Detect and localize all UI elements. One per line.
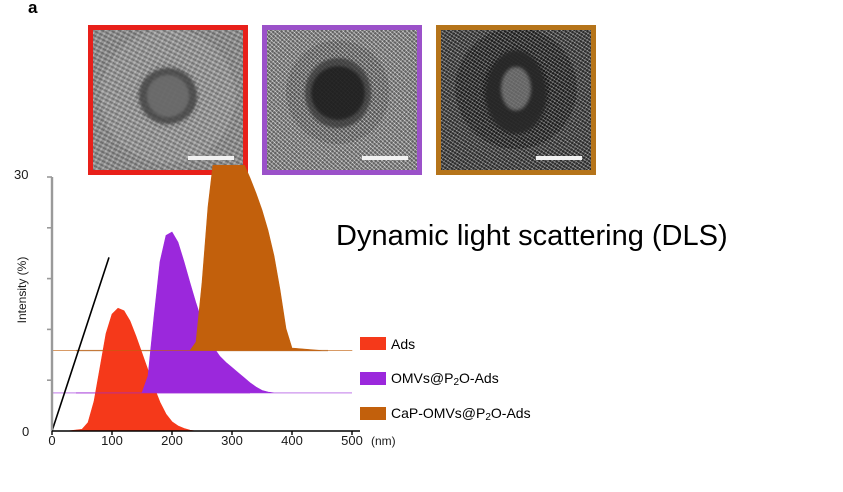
scale-bar-icon bbox=[188, 156, 234, 160]
tem-cap-inner bbox=[441, 30, 591, 170]
tem-image-ads bbox=[88, 25, 248, 175]
legend-label-ads: Ads bbox=[391, 336, 415, 352]
dls-plot: Intensity (%) 30 0 0 100 200 300 400 500… bbox=[0, 165, 420, 465]
chart-legend: Ads OMVs@P2O-Ads CaP-OMVs@P2O-Ads bbox=[360, 326, 660, 431]
tem-ads-particle bbox=[139, 68, 197, 124]
tem-image-omvs bbox=[262, 25, 422, 175]
x-tick-label-0: 0 bbox=[48, 433, 55, 448]
legend-item-ads: Ads bbox=[360, 326, 660, 361]
tem-image-cap-omvs bbox=[436, 25, 596, 175]
scale-bar-icon bbox=[536, 156, 582, 160]
panel-label-a: a bbox=[28, 0, 37, 18]
legend-item-omvs: OMVs@P2O-Ads bbox=[360, 361, 660, 396]
x-tick-label-300: 300 bbox=[221, 433, 243, 448]
x-tick-label-100: 100 bbox=[101, 433, 123, 448]
x-tick-label-400: 400 bbox=[281, 433, 303, 448]
scale-bar-icon bbox=[362, 156, 408, 160]
x-tick-label-200: 200 bbox=[161, 433, 183, 448]
tem-omvs-particle bbox=[305, 58, 371, 128]
legend-swatch-omvs bbox=[360, 372, 386, 385]
figure-root: a Dynamic light scattering (DLS) Intensi… bbox=[0, 0, 843, 492]
plot-canvas bbox=[0, 165, 420, 465]
series-area-cap-omvs-p2o-ads bbox=[52, 165, 352, 351]
legend-swatch-cap-omvs bbox=[360, 407, 386, 420]
legend-label-omvs: OMVs@P2O-Ads bbox=[391, 370, 499, 388]
x-axis-unit-label: (nm) bbox=[371, 434, 396, 448]
tem-omvs-inner bbox=[267, 30, 417, 170]
legend-item-cap-omvs: CaP-OMVs@P2O-Ads bbox=[360, 396, 660, 431]
tem-ads-inner bbox=[93, 30, 243, 170]
x-tick-label-500: 500 bbox=[341, 433, 363, 448]
legend-swatch-ads bbox=[360, 337, 386, 350]
legend-label-cap-omvs: CaP-OMVs@P2O-Ads bbox=[391, 405, 531, 423]
